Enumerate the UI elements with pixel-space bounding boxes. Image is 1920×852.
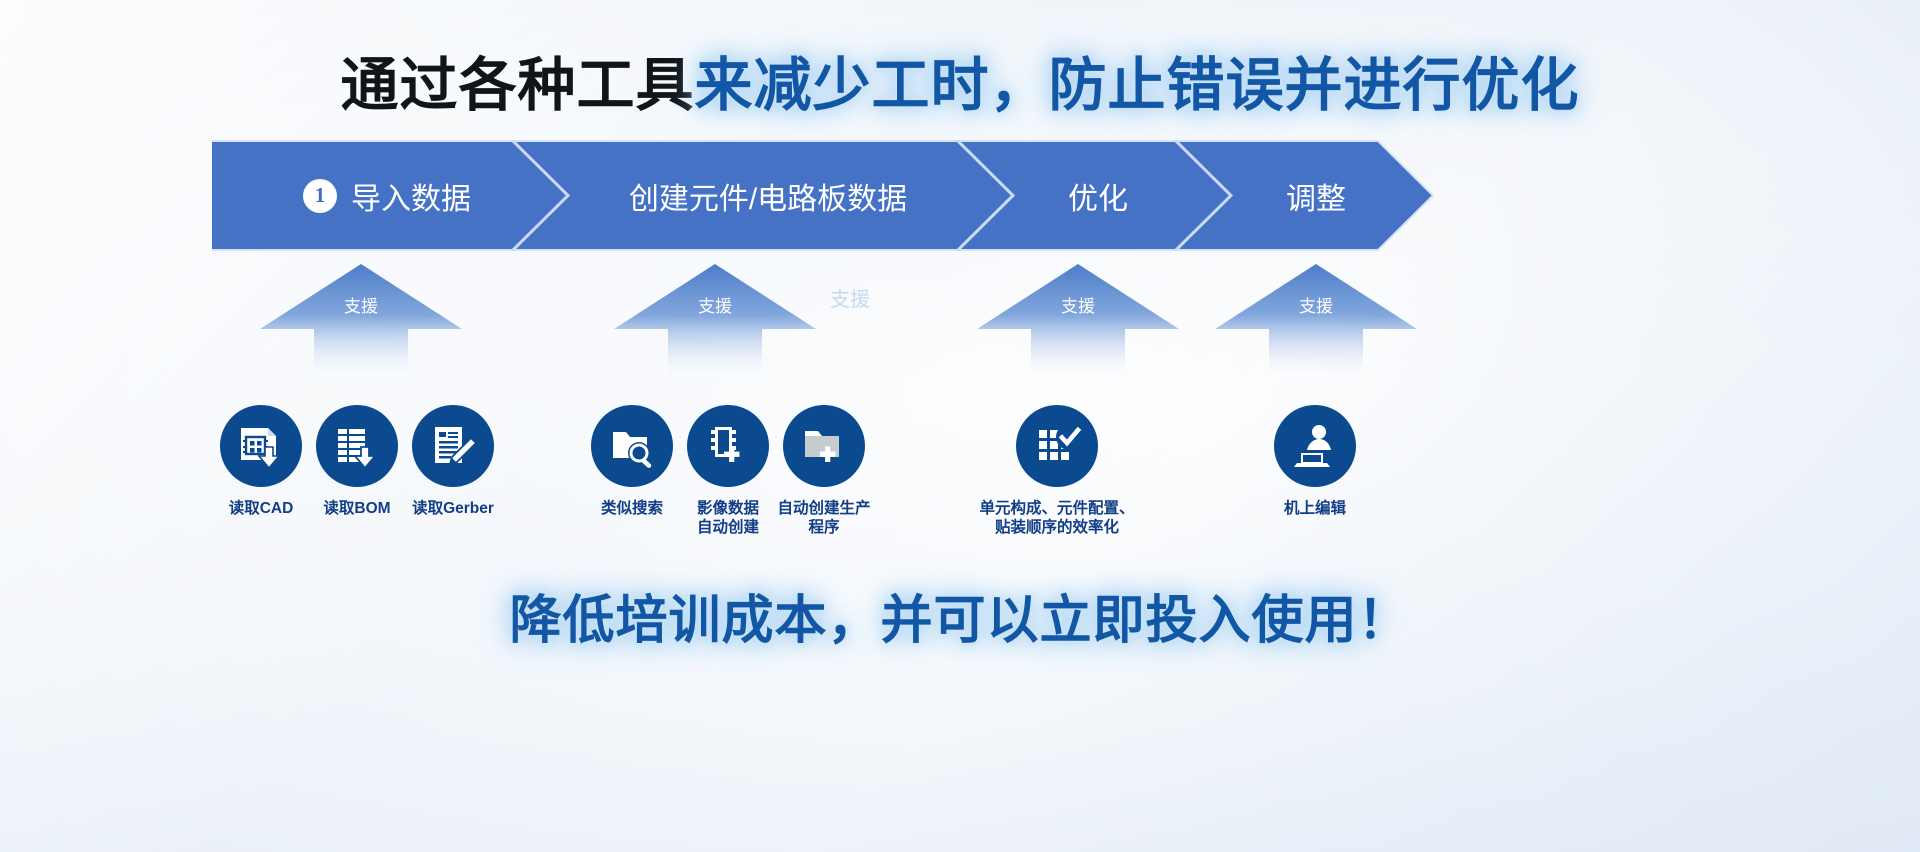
page-title-accent: 来减少工时，防止错误并进行优化 bbox=[695, 53, 1580, 118]
banner-step-2[interactable]: 创建元件/电路板数据 bbox=[568, 140, 968, 251]
support-arrow-4: 支援 bbox=[1213, 262, 1419, 377]
banner-step-4-label: 调整 bbox=[1286, 174, 1346, 218]
icon-label-onsite-edit: 机上编辑 bbox=[1284, 499, 1346, 518]
support-arrow-3: 支援 bbox=[975, 262, 1181, 377]
icon-item-optimize[interactable]: 单元构成、元件配置、 贴装顺序的效率化 bbox=[962, 405, 1152, 538]
support-arrow-3-shape bbox=[977, 264, 1179, 377]
support-arrow-2-label: 支援 bbox=[612, 292, 818, 317]
icon-group-optimize: 单元构成、元件配置、 贴装顺序的效率化 bbox=[962, 405, 1152, 538]
chip-add-icon bbox=[687, 405, 769, 487]
banner-step-1[interactable]: 1 导入数据 bbox=[252, 140, 522, 251]
folder-add-icon bbox=[783, 405, 865, 487]
support-arrow-4-shape bbox=[1215, 264, 1417, 377]
footer-tagline: 降低培训成本，并可以立即投入使用！ bbox=[0, 578, 1920, 653]
banner-step-3-label: 优化 bbox=[1068, 174, 1128, 218]
icon-label-optimize: 单元构成、元件配置、 贴装顺序的效率化 bbox=[970, 499, 1145, 538]
support-arrow-2-shape bbox=[614, 264, 816, 377]
cad-file-download-icon bbox=[220, 405, 302, 487]
banner-step-3[interactable]: 优化 bbox=[1013, 140, 1183, 251]
support-arrow-2: 支援 bbox=[612, 262, 818, 377]
icon-group-create-data: 类似搜索 影像数据 自动创建 bbox=[584, 405, 872, 538]
icon-group-adjust: 机上编辑 bbox=[1245, 405, 1385, 518]
gerber-edit-icon bbox=[412, 405, 494, 487]
icon-label-read-cad: 读取CAD bbox=[229, 499, 294, 518]
icon-item-read-bom[interactable]: 读取BOM bbox=[309, 405, 405, 518]
banner-step-1-label: 导入数据 bbox=[351, 174, 471, 218]
slide-canvas: 通过各种工具来减少工时，防止错误并进行优化 1 导入数据 创建元件/电路板数据 … bbox=[0, 0, 1920, 852]
support-arrow-1-label: 支援 bbox=[258, 292, 464, 317]
icon-item-read-cad[interactable]: 读取CAD bbox=[213, 405, 309, 518]
icon-item-onsite-edit[interactable]: 机上编辑 bbox=[1245, 405, 1385, 518]
icon-item-auto-create-program[interactable]: 自动创建生产 程序 bbox=[776, 405, 872, 538]
banner-step-2-label: 创建元件/电路板数据 bbox=[629, 174, 907, 218]
icon-label-read-gerber: 读取Gerber bbox=[412, 499, 494, 518]
bom-table-download-icon bbox=[316, 405, 398, 487]
icon-item-read-gerber[interactable]: 读取Gerber bbox=[405, 405, 501, 518]
operator-laptop-icon bbox=[1274, 405, 1356, 487]
support-arrow-1-shape bbox=[260, 264, 462, 377]
icon-item-image-auto-create[interactable]: 影像数据 自动创建 bbox=[680, 405, 776, 538]
ghost-support-text: 支援 bbox=[830, 283, 870, 312]
grid-check-icon bbox=[1016, 405, 1098, 487]
folder-search-icon bbox=[591, 405, 673, 487]
support-arrow-1: 支援 bbox=[258, 262, 464, 377]
icon-item-similar-search[interactable]: 类似搜索 bbox=[584, 405, 680, 518]
icon-label-auto-create-program: 自动创建生产 程序 bbox=[765, 499, 883, 538]
support-arrow-4-label: 支援 bbox=[1213, 292, 1419, 317]
process-banner: 1 导入数据 创建元件/电路板数据 优化 调整 bbox=[212, 140, 1434, 251]
icon-group-import-data: 读取CAD 读取 bbox=[213, 405, 501, 518]
page-title: 通过各种工具来减少工时，防止错误并进行优化 bbox=[0, 38, 1920, 122]
icon-label-similar-search: 类似搜索 bbox=[601, 499, 663, 518]
banner-step-4[interactable]: 调整 bbox=[1231, 140, 1401, 251]
page-title-plain: 通过各种工具 bbox=[340, 53, 694, 118]
support-arrow-3-label: 支援 bbox=[975, 292, 1181, 317]
step-number-badge: 1 bbox=[303, 179, 337, 213]
icon-label-read-bom: 读取BOM bbox=[323, 499, 390, 518]
